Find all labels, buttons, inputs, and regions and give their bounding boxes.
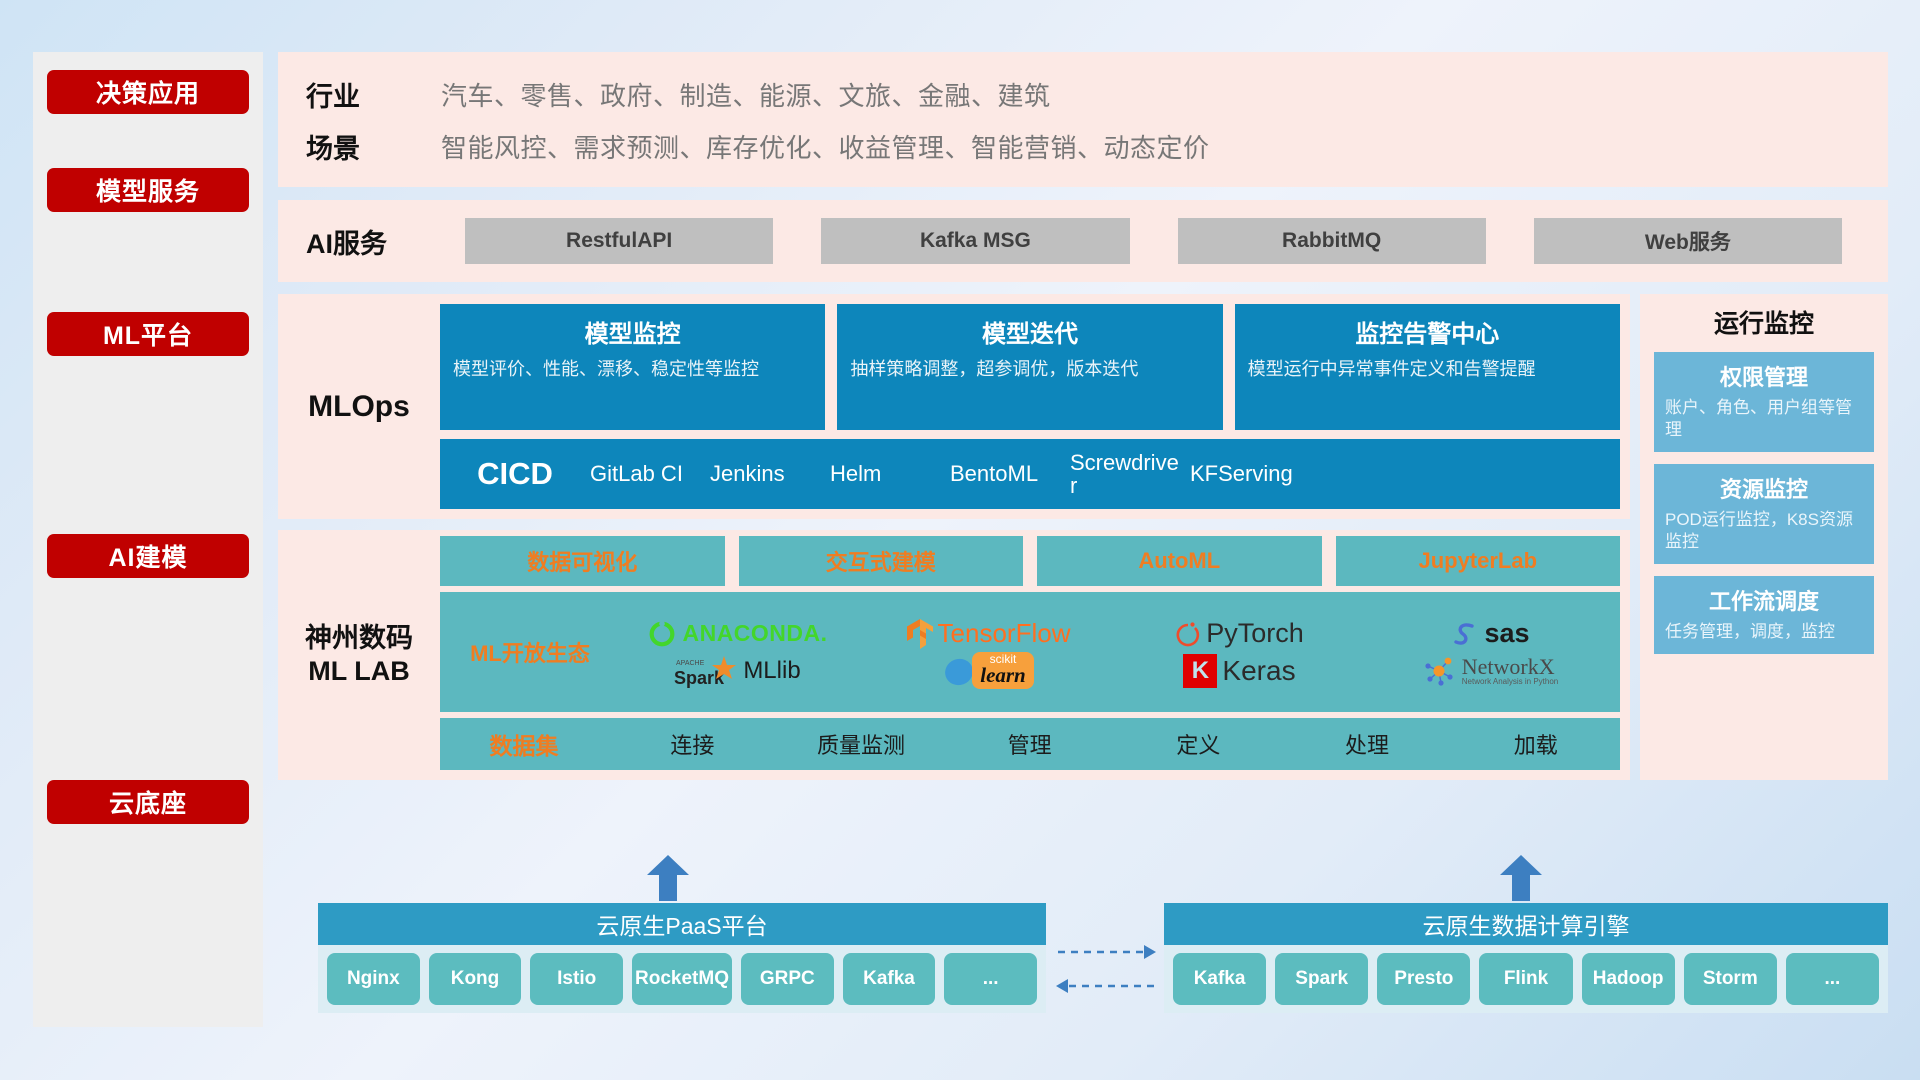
industry-values: 汽车、零售、政府、制造、能源、文旅、金融、建筑 [441,76,1051,113]
spark-mllib-logo: APACHE Spark MLlib [674,654,800,688]
dataset-row: 数据集 连接 质量监测 管理 定义 处理 加载 [440,718,1620,770]
mlops-band: MLOps 模型监控 模型评价、性能、漂移、稳定性等监控 模型迭代 抽样策略调整… [278,294,1630,519]
paas-chip-istio[interactable]: Istio [530,953,623,1005]
learn-wordmark: learn [980,665,1026,686]
ai-service-items: RestfulAPI Kafka MSG RabbitMQ Web服务 [441,218,1888,264]
monitor-card-permission[interactable]: 权限管理 账户、角色、用户组等管理 [1654,352,1874,452]
layer-chip-label: 云底座 [109,784,187,820]
paas-title: 云原生PaaS平台 [318,903,1046,945]
tensorflow-icon [907,619,933,649]
paas-chip-kong[interactable]: Kong [429,953,522,1005]
scenario-values: 智能风控、需求预测、库存优化、收益管理、智能营销、动态定价 [441,128,1210,165]
paas-chip-nginx[interactable]: Nginx [327,953,420,1005]
card-title: 模型监控 [453,314,812,349]
card-desc: 账户、角色、用户组等管理 [1665,397,1863,441]
layer-chip-decision[interactable]: 决策应用 [47,70,249,114]
lab-tool-jupyterlab[interactable]: JupyterLab [1336,536,1621,586]
card-desc: 模型评价、性能、漂移、稳定性等监控 [453,357,812,381]
paas-chip-grpc[interactable]: GRPC [741,953,834,1005]
pytorch-logo: PyTorch [1175,618,1304,649]
anaconda-wordmark: ANACONDA. [682,620,827,647]
mlops-card-model-iteration[interactable]: 模型迭代 抽样策略调整，超参调优，版本迭代 [837,304,1222,430]
bidirectional-dashed-link [1056,940,1156,1000]
cloud-native-paas-group: 云原生PaaS平台 Nginx Kong Istio RocketMQ GRPC… [318,903,1046,1013]
card-title: 模型迭代 [850,314,1209,349]
dataset-label: 数据集 [440,727,608,761]
layer-chip-model-service[interactable]: 模型服务 [47,168,249,212]
engine-chip-spark[interactable]: Spark [1275,953,1368,1005]
engine-chip-more[interactable]: ... [1786,953,1879,1005]
mlops-card-model-monitoring[interactable]: 模型监控 模型评价、性能、漂移、稳定性等监控 [440,304,825,430]
sas-wordmark: sas [1484,618,1529,649]
ml-lab-band: 神州数码 ML LAB 数据可视化 交互式建模 AutoML JupyterLa… [278,530,1630,780]
monitor-card-resource[interactable]: 资源监控 POD运行监控，K8S资源监控 [1654,464,1874,564]
industry-row: 行业 汽车、零售、政府、制造、能源、文旅、金融、建筑 [306,68,1888,120]
paas-items: Nginx Kong Istio RocketMQ GRPC Kafka ... [318,945,1046,1013]
decision-application-band: 行业 汽车、零售、政府、制造、能源、文旅、金融、建筑 场景 智能风控、需求预测、… [278,52,1888,187]
networkx-logo: NetworkX Network Analysis in Python [1423,655,1559,687]
ml-ecosystem-panel: ML开放生态 ANACONDA. [440,592,1620,712]
cicd-item-bentoml[interactable]: BentoML [950,462,1070,485]
engine-chip-presto[interactable]: Presto [1377,953,1470,1005]
anaconda-icon [647,619,677,649]
engine-chip-kafka[interactable]: Kafka [1173,953,1266,1005]
layer-chip-label: 模型服务 [96,172,200,208]
industry-label: 行业 [306,75,441,114]
service-chip-kafka-msg[interactable]: Kafka MSG [821,218,1129,264]
cicd-item-gitlab-ci[interactable]: GitLab CI [590,462,710,485]
ml-ecosystem-logos: ANACONDA. TensorFlow [614,615,1614,689]
engine-chip-flink[interactable]: Flink [1479,953,1572,1005]
card-desc: 抽样策略调整，超参调优，版本迭代 [850,357,1209,381]
mlops-label: MLOps [278,294,440,519]
layer-chip-label: 决策应用 [96,74,200,110]
ai-service-band: AI服务 RestfulAPI Kafka MSG RabbitMQ Web服务 [278,200,1888,282]
cicd-item-helm[interactable]: Helm [830,462,950,485]
layer-chip-ai-modeling[interactable]: AI建模 [47,534,249,578]
service-chip-restfulapi[interactable]: RestfulAPI [465,218,773,264]
tensorflow-logo: TensorFlow [907,618,1071,649]
lab-tool-interactive-modeling[interactable]: 交互式建模 [739,536,1024,586]
runtime-monitor-panel: 运行监控 权限管理 账户、角色、用户组等管理 资源监控 POD运行监控，K8S资… [1640,294,1888,780]
keras-wordmark: Keras [1222,655,1295,687]
layer-chip-cloud-base[interactable]: 云底座 [47,780,249,824]
networkx-tagline: Network Analysis in Python [1462,678,1559,686]
layer-rail: 决策应用 模型服务 ML平台 AI建模 云底座 [33,52,263,1027]
mlops-card-alert-center[interactable]: 监控告警中心 模型运行中异常事件定义和告警提醒 [1235,304,1620,430]
paas-chip-rocketmq[interactable]: RocketMQ [632,953,732,1005]
data-engine-items: Kafka Spark Presto Flink Hadoop Storm ..… [1164,945,1888,1013]
cicd-item-kfserving[interactable]: KFServing [1190,462,1310,485]
ml-lab-label: 神州数码 ML LAB [278,530,440,780]
scenario-row: 场景 智能风控、需求预测、库存优化、收益管理、智能营销、动态定价 [306,120,1888,172]
networkx-wordmark-block: NetworkX Network Analysis in Python [1462,655,1559,686]
scenario-label: 场景 [306,127,441,166]
card-desc: 任务管理，调度，监控 [1665,621,1863,643]
spark-icon: APACHE Spark [674,654,738,688]
cloud-native-data-engine-group: 云原生数据计算引擎 Kafka Spark Presto Flink Hadoo… [1164,903,1888,1013]
layer-chip-label: ML平台 [103,316,193,352]
keras-logo: K Keras [1183,654,1295,688]
card-title: 资源监控 [1665,472,1863,504]
monitor-card-workflow[interactable]: 工作流调度 任务管理，调度，监控 [1654,576,1874,654]
mllib-wordmark: MLlib [743,657,800,685]
tensorflow-wordmark: TensorFlow [938,618,1071,649]
card-title: 监控告警中心 [1248,314,1607,349]
engine-chip-hadoop[interactable]: Hadoop [1582,953,1675,1005]
pytorch-wordmark: PyTorch [1206,618,1304,649]
scikit-learn-logo: scikit learn [943,652,1034,689]
arrow-up-paas [645,855,691,901]
dataset-item-define[interactable]: 定义 [1114,728,1283,760]
card-title: 权限管理 [1665,360,1863,392]
layer-chip-label: AI建模 [108,538,187,574]
cicd-title: CICD [440,456,590,492]
ml-lab-label-line2: ML LAB [308,655,410,688]
mlops-cards: 模型监控 模型评价、性能、漂移、稳定性等监控 模型迭代 抽样策略调整，超参调优，… [440,304,1620,430]
cicd-item-jenkins[interactable]: Jenkins [710,462,830,485]
ml-lab-tools: 数据可视化 交互式建模 AutoML JupyterLab [440,536,1620,586]
paas-chip-more[interactable]: ... [944,953,1037,1005]
runtime-monitor-title: 运行监控 [1654,304,1874,340]
pytorch-icon [1175,619,1201,649]
card-desc: 模型运行中异常事件定义和告警提醒 [1248,357,1607,381]
card-title: 工作流调度 [1665,584,1863,616]
engine-chip-storm[interactable]: Storm [1684,953,1777,1005]
anaconda-logo: ANACONDA. [647,619,827,649]
ai-service-label: AI服务 [306,222,441,261]
lab-tool-data-visualization[interactable]: 数据可视化 [440,536,725,586]
cicd-item-screwdriver[interactable]: Screwdriver [1070,451,1190,497]
sas-icon [1451,620,1479,648]
service-chip-web[interactable]: Web服务 [1534,218,1842,264]
networkx-icon [1423,655,1457,687]
arrow-up-data-engine [1498,855,1544,901]
lab-tool-automl[interactable]: AutoML [1037,536,1322,586]
paas-chip-kafka[interactable]: Kafka [843,953,936,1005]
svg-text:APACHE: APACHE [676,660,705,667]
card-desc: POD运行监控，K8S资源监控 [1665,509,1863,553]
dataset-item-quality[interactable]: 质量监测 [777,728,946,760]
ml-ecosystem-label: ML开放生态 [446,636,614,668]
sas-logo: sas [1451,618,1529,649]
keras-icon: K [1183,654,1217,688]
data-engine-title: 云原生数据计算引擎 [1164,903,1888,945]
layer-chip-ml-platform[interactable]: ML平台 [47,312,249,356]
ml-lab-label-line1: 神州数码 [305,622,413,655]
networkx-wordmark: NetworkX [1462,655,1559,678]
dataset-item-process[interactable]: 处理 [1283,728,1452,760]
service-chip-rabbitmq[interactable]: RabbitMQ [1178,218,1486,264]
scikit-learn-badge: scikit learn [972,652,1034,689]
dataset-item-manage[interactable]: 管理 [945,728,1114,760]
mlops-body: 模型监控 模型评价、性能、漂移、稳定性等监控 模型迭代 抽样策略调整，超参调优，… [440,294,1630,519]
cicd-bar: CICD GitLab CI Jenkins Helm BentoML Scre… [440,439,1620,509]
dataset-item-connect[interactable]: 连接 [608,728,777,760]
dataset-item-load[interactable]: 加载 [1451,728,1620,760]
ml-lab-body: 数据可视化 交互式建模 AutoML JupyterLab ML开放生态 A [440,530,1630,780]
